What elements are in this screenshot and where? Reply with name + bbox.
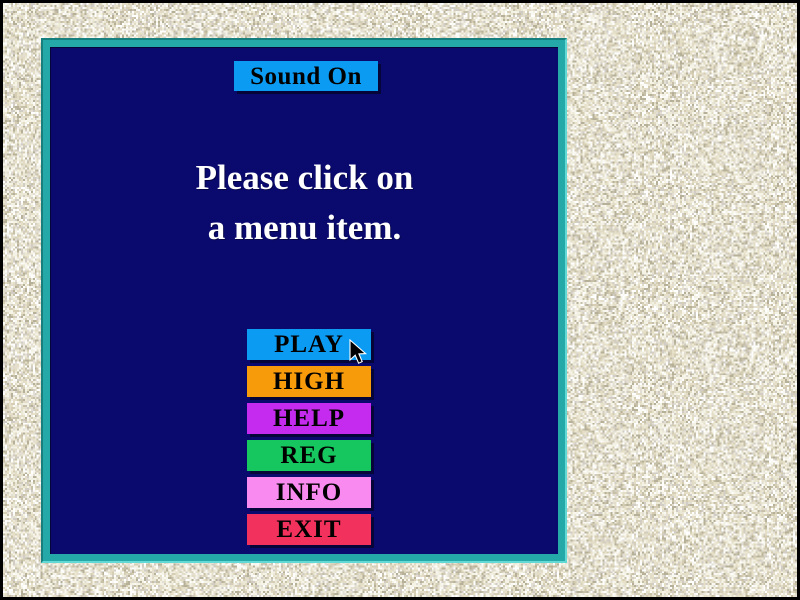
app-screen: Sound On Please click on a menu item. PL… [0,0,800,600]
game-panel: Sound On Please click on a menu item. PL… [50,47,558,554]
prompt-message-line-2: a menu item. [51,203,558,253]
prompt-message: Please click on a menu item. [51,153,558,253]
sound-toggle-button[interactable]: Sound On [234,61,378,91]
game-panel-frame: Sound On Please click on a menu item. PL… [41,38,567,563]
menu-item-play[interactable]: PLAY [247,329,371,360]
menu-item-help[interactable]: HELP [247,403,371,434]
menu-item-reg[interactable]: REG [247,440,371,471]
prompt-message-line-1: Please click on [51,153,558,203]
menu-item-info[interactable]: INFO [247,477,371,508]
main-menu: PLAY HIGH HELP REG INFO EXIT [247,329,371,545]
menu-item-exit[interactable]: EXIT [247,514,371,545]
menu-item-high[interactable]: HIGH [247,366,371,397]
